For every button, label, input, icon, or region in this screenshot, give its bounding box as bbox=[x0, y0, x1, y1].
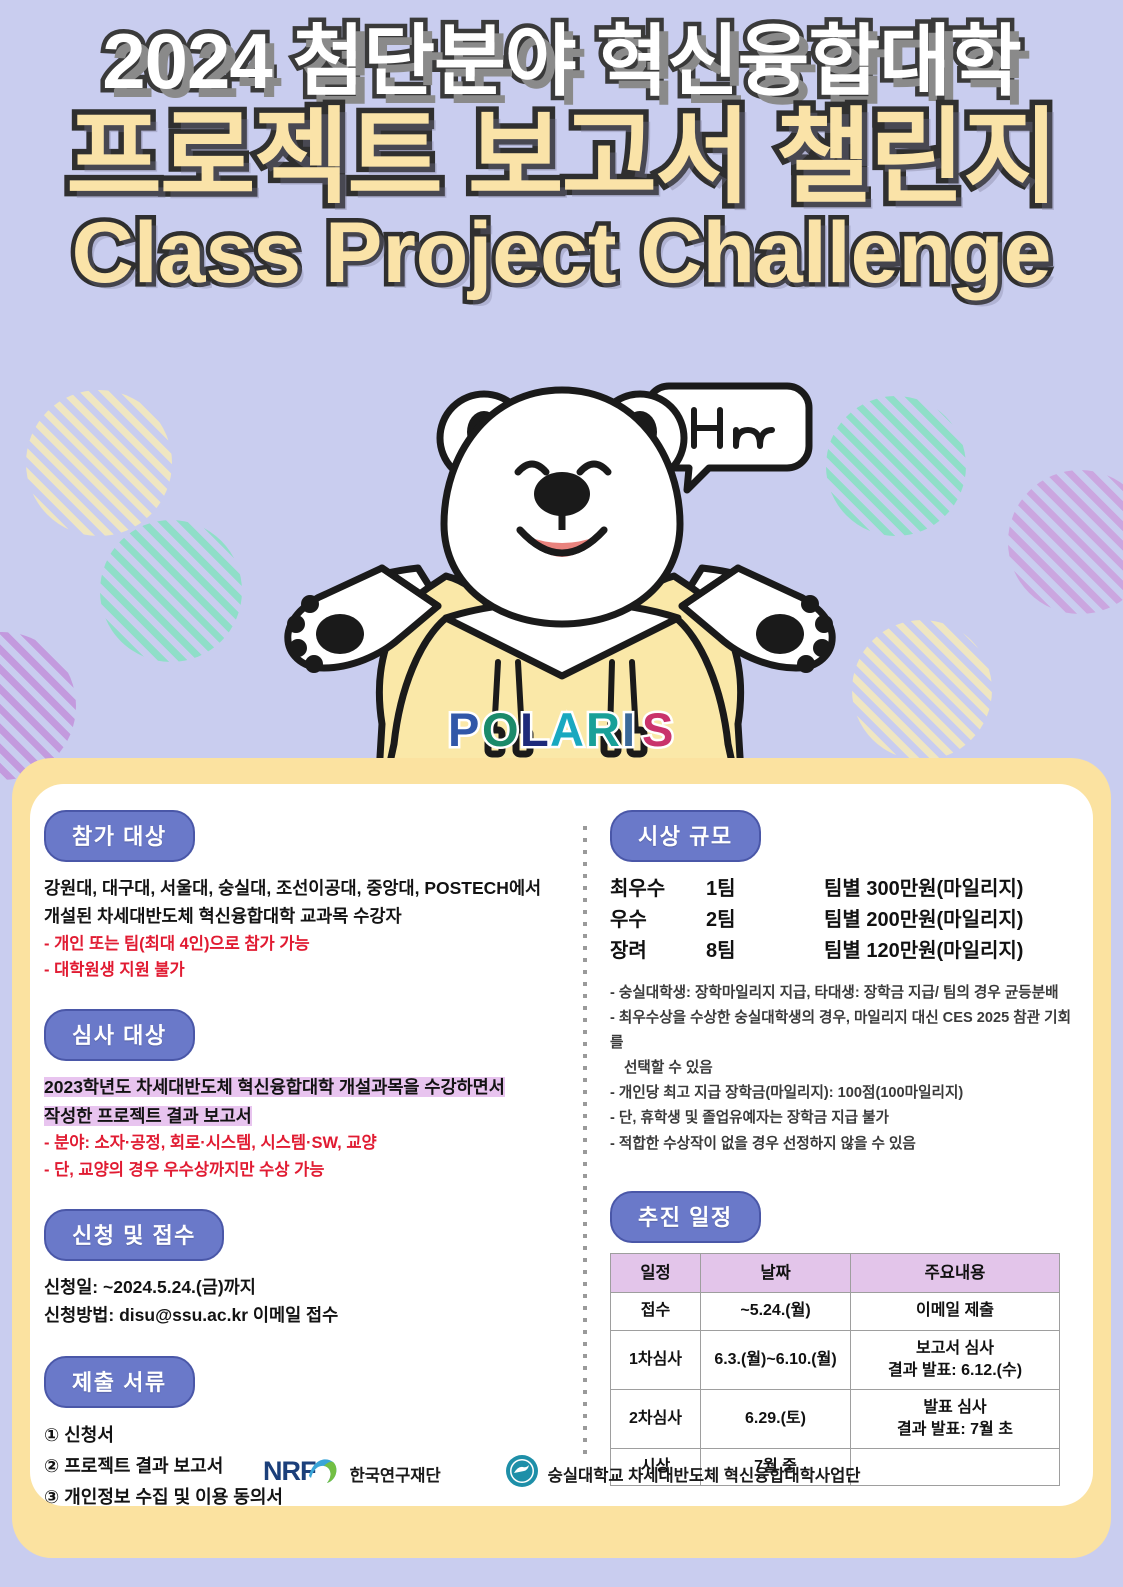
review-highlight-2: 작성한 프로젝트 결과 보고서 bbox=[44, 1106, 252, 1126]
prize-note-2: - 최우수상을 수상한 숭실대학생의 경우, 마일리지 대신 CES 2025 … bbox=[610, 1006, 1080, 1056]
polar-bear-mascot: P O L A R I S bbox=[232, 372, 892, 797]
deco-circle-lilac-right bbox=[1008, 470, 1123, 614]
prize-notes: - 숭실대학생: 장학마일리지 지급, 타대생: 장학금 지급/ 팀의 경우 균… bbox=[610, 981, 1080, 1157]
prize-note-5: - 단, 휴학생 및 졸업유예자는 장학금 지급 불가 bbox=[610, 1106, 1080, 1131]
svg-text:A: A bbox=[550, 703, 585, 756]
review-note-2: - 단, 교양의 경우 우수상까지만 수상 가능 bbox=[44, 1157, 572, 1183]
schedule-detail-l1: 이메일 제출 bbox=[916, 1302, 994, 1319]
title-line-1: 2024 첨단분야 혁신융합대학 bbox=[0, 22, 1123, 100]
badge-review: 심사 대상 bbox=[44, 1009, 195, 1061]
deco-circle-cream-left bbox=[26, 390, 172, 536]
schedule-detail-l1: 보고서 심사 bbox=[916, 1340, 994, 1357]
table-row: 접수 ~5.24.(월) 이메일 제출 bbox=[611, 1293, 1060, 1330]
prize-amount: 팀별 120만원(마일리지) bbox=[824, 936, 1080, 967]
title-line-3: Class Project Challenge bbox=[0, 210, 1123, 296]
schedule-header-stage: 일정 bbox=[611, 1253, 701, 1293]
schedule-stage: 1차심사 bbox=[611, 1330, 701, 1389]
schedule-table: 일정 날짜 주요내용 접수 ~5.24.(월) 이메일 제출 1차심사 6.3.… bbox=[610, 1253, 1060, 1486]
svg-text:P: P bbox=[448, 703, 480, 756]
title-line-2: 프로젝트 보고서 챌린지 bbox=[0, 104, 1123, 212]
ssu-seal-icon bbox=[505, 1454, 539, 1493]
prize-note-6: - 적합한 수상작이 없을 경우 선정하지 않을 수 있음 bbox=[610, 1132, 1080, 1157]
ssu-logo-unit: 숭실대학교 차세대반도체 혁신융합대학사업단 bbox=[505, 1454, 861, 1493]
schedule-stage: 접수 bbox=[611, 1293, 701, 1330]
prize-name: 우수 bbox=[610, 905, 706, 936]
schedule-date: 6.3.(월)~6.10.(월) bbox=[701, 1330, 851, 1389]
column-divider bbox=[583, 826, 587, 1456]
table-row: 2차심사 6.29.(토) 발표 심사 결과 발표: 7월 초 bbox=[611, 1389, 1060, 1448]
prize-row: 최우수 1팀 팀별 300만원(마일리지) bbox=[610, 874, 1080, 905]
badge-documents: 제출 서류 bbox=[44, 1356, 195, 1408]
prize-teams: 1팀 bbox=[706, 874, 824, 905]
schedule-header-row: 일정 날짜 주요내용 bbox=[611, 1253, 1060, 1293]
document-item-1: ① 신청서 bbox=[44, 1420, 572, 1451]
svg-text:I: I bbox=[622, 703, 636, 756]
table-row: 1차심사 6.3.(월)~6.10.(월) 보고서 심사 결과 발표: 6.12… bbox=[611, 1330, 1060, 1389]
review-highlight-1: 2023학년도 차세대반도체 혁신융합대학 개설과목을 수강하면서 bbox=[44, 1077, 505, 1097]
schedule-stage: 2차심사 bbox=[611, 1389, 701, 1448]
nrf-label: 한국연구재단 bbox=[350, 1462, 441, 1486]
badge-participants: 참가 대상 bbox=[44, 810, 195, 862]
prize-note-4: - 개인당 최고 지급 장학금(마일리지): 100점(100마일리지) bbox=[610, 1081, 1080, 1106]
schedule-date: 6.29.(토) bbox=[701, 1389, 851, 1448]
prize-note-1: - 숭실대학생: 장학마일리지 지급, 타대생: 장학금 지급/ 팀의 경우 균… bbox=[610, 981, 1080, 1006]
schedule-detail-l1: 발표 심사 bbox=[923, 1399, 986, 1416]
badge-schedule: 추진 일정 bbox=[610, 1191, 761, 1243]
schedule-header-date: 날짜 bbox=[701, 1253, 851, 1293]
prize-row: 장려 8팀 팀별 120만원(마일리지) bbox=[610, 936, 1080, 967]
badge-prizes: 시상 규모 bbox=[610, 810, 761, 862]
right-column: 시상 규모 최우수 1팀 팀별 300만원(마일리지) 우수 2팀 팀별 200… bbox=[610, 810, 1080, 1506]
prize-amount: 팀별 300만원(마일리지) bbox=[824, 874, 1080, 905]
review-highlight-wrap: 2023학년도 차세대반도체 혁신융합대학 개설과목을 수강하면서 작성한 프로… bbox=[44, 1073, 572, 1130]
schedule-detail: 이메일 제출 bbox=[851, 1293, 1060, 1330]
prize-name: 최우수 bbox=[610, 874, 706, 905]
left-column: 참가 대상 강원대, 대구대, 서울대, 숭실대, 조선이공대, 중앙대, PO… bbox=[44, 810, 572, 1506]
svg-text:S: S bbox=[642, 703, 674, 756]
nrf-logo-unit: NRF 한국연구재단 bbox=[263, 1454, 441, 1493]
svg-text:O: O bbox=[482, 703, 520, 756]
badge-apply: 신청 및 접수 bbox=[44, 1209, 224, 1261]
poster-title-block: 2024 첨단분야 혁신융합대학 프로젝트 보고서 챌린지 Class Proj… bbox=[0, 0, 1123, 296]
participants-note-2: - 대학원생 지원 불가 bbox=[44, 957, 572, 983]
info-card: 참가 대상 강원대, 대구대, 서울대, 숭실대, 조선이공대, 중앙대, PO… bbox=[30, 784, 1093, 1506]
schedule-date: ~5.24.(월) bbox=[701, 1293, 851, 1330]
schedule-detail-l2: 결과 발표: 7월 초 bbox=[897, 1421, 1013, 1438]
prize-note-3: 선택할 수 있음 bbox=[610, 1056, 1080, 1081]
participants-line-1: 강원대, 대구대, 서울대, 숭실대, 조선이공대, 중앙대, POSTECH에… bbox=[44, 874, 572, 902]
nrf-logo-icon: NRF bbox=[263, 1454, 341, 1493]
apply-line-1: 신청일: ~2024.5.24.(금)까지 bbox=[44, 1273, 572, 1301]
deco-circle-mint-left bbox=[100, 520, 242, 662]
prize-teams: 8팀 bbox=[706, 936, 824, 967]
schedule-header-detail: 주요내용 bbox=[851, 1253, 1060, 1293]
schedule-detail: 발표 심사 결과 발표: 7월 초 bbox=[851, 1389, 1060, 1448]
footer-logos: NRF 한국연구재단 숭실대학교 차세대반도체 혁신융합대학사업단 bbox=[30, 1454, 1093, 1493]
participants-note-1: - 개인 또는 팀(최대 4인)으로 참가 가능 bbox=[44, 931, 572, 957]
apply-line-2: 신청방법: disu@ssu.ac.kr 이메일 접수 bbox=[44, 1301, 572, 1329]
participants-line-2: 개설된 차세대반도체 혁신융합대학 교과목 수강자 bbox=[44, 902, 572, 930]
prize-teams: 2팀 bbox=[706, 905, 824, 936]
svg-text:R: R bbox=[586, 703, 621, 756]
review-note-1: - 분야: 소자·공정, 회로·시스템, 시스템·SW, 교양 bbox=[44, 1130, 572, 1156]
schedule-detail: 보고서 심사 결과 발표: 6.12.(수) bbox=[851, 1330, 1060, 1389]
schedule-detail-l2: 결과 발표: 6.12.(수) bbox=[888, 1362, 1022, 1379]
prize-name: 장려 bbox=[610, 936, 706, 967]
svg-text:L: L bbox=[520, 703, 550, 756]
prize-amount: 팀별 200만원(마일리지) bbox=[824, 905, 1080, 936]
prize-row: 우수 2팀 팀별 200만원(마일리지) bbox=[610, 905, 1080, 936]
svg-text:NRF: NRF bbox=[263, 1456, 316, 1486]
ssu-label: 숭실대학교 차세대반도체 혁신융합대학사업단 bbox=[548, 1462, 861, 1486]
